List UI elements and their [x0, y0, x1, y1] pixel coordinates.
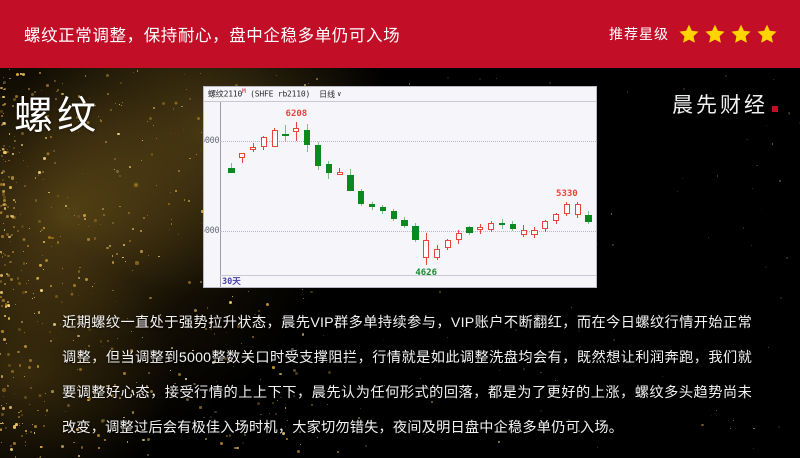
gold-speck — [8, 317, 11, 320]
gold-speck — [38, 175, 39, 176]
gold-speck — [123, 244, 125, 246]
gold-speck — [16, 182, 18, 184]
gold-speck — [2, 204, 4, 206]
gold-speck — [1, 375, 4, 378]
gold-speck — [1, 155, 3, 157]
brand-dot-icon — [772, 106, 778, 112]
gold-speck — [3, 145, 5, 147]
gold-speck — [132, 228, 134, 230]
gold-speck — [11, 215, 14, 218]
brand-name: 晨先财经 — [672, 89, 768, 119]
gold-speck — [234, 447, 236, 449]
gold-speck — [37, 277, 40, 280]
candle-body — [466, 227, 472, 233]
gold-speck — [94, 283, 95, 284]
gold-speck — [17, 277, 20, 280]
gold-speck — [110, 109, 112, 111]
candle-body — [477, 227, 483, 231]
gold-speck — [67, 197, 68, 198]
gold-speck — [19, 423, 20, 424]
gold-speck — [224, 299, 226, 301]
gold-speck — [25, 445, 26, 446]
gold-speck — [119, 104, 120, 105]
gold-speck — [1, 172, 3, 174]
gold-speck — [37, 277, 39, 279]
gold-speck — [106, 74, 109, 77]
gold-speck — [41, 90, 42, 91]
gold-speck — [43, 425, 46, 428]
gold-speck — [77, 215, 79, 217]
candle-body — [304, 130, 310, 145]
gold-speck — [183, 129, 184, 130]
gold-speck — [780, 297, 782, 299]
gold-speck — [4, 283, 7, 286]
gold-speck — [43, 269, 44, 270]
rating-label: 推荐星级 — [609, 24, 669, 44]
gold-speck — [53, 338, 54, 339]
gold-speck — [1, 124, 3, 126]
gold-speck — [751, 245, 753, 247]
candle-body — [510, 224, 516, 229]
candle-body — [412, 226, 418, 241]
candle-body — [261, 137, 267, 147]
gold-speck — [10, 241, 11, 242]
gold-speck — [18, 416, 20, 418]
gold-speck — [15, 201, 17, 203]
gold-speck — [121, 105, 122, 106]
gold-speck — [143, 217, 145, 219]
gold-speck — [51, 390, 54, 393]
gold-speck — [248, 291, 250, 293]
gold-speck — [51, 246, 52, 247]
gold-speck — [188, 281, 191, 284]
gold-speck — [21, 435, 23, 437]
gold-speck — [100, 224, 101, 225]
gold-speck — [677, 191, 678, 192]
gold-speck — [6, 403, 8, 405]
gold-speck — [2, 256, 4, 258]
chart-symbol-superscript: M — [242, 88, 245, 95]
gold-speck — [10, 235, 11, 236]
gold-speck — [4, 229, 6, 231]
gold-speck — [156, 185, 157, 186]
chart-exchange-code: (SHFE rb2110) — [250, 90, 310, 99]
gold-speck — [5, 427, 7, 429]
gold-speck — [19, 364, 21, 366]
gold-speck — [57, 241, 60, 244]
gold-speck — [62, 83, 63, 84]
gold-speck — [38, 171, 41, 174]
gold-speck — [175, 190, 177, 192]
candle-body — [358, 191, 364, 205]
gold-speck — [119, 206, 121, 208]
gold-speck — [85, 278, 88, 281]
gold-speck — [15, 304, 17, 306]
gold-speck — [60, 324, 61, 325]
gold-speck — [29, 228, 30, 229]
gold-speck — [21, 270, 22, 271]
gold-speck — [71, 290, 72, 291]
gold-speck — [232, 296, 233, 297]
gold-speck — [53, 323, 56, 326]
banner-title: 螺纹正常调整，保持耐心，盘中企稳多单仍可入场 — [24, 22, 400, 46]
gold-speck — [20, 214, 21, 215]
gold-speck — [18, 282, 21, 285]
gold-speck — [13, 199, 15, 201]
gold-speck — [597, 447, 599, 449]
gold-speck — [201, 132, 202, 133]
candle-body — [239, 153, 245, 158]
gold-speck — [7, 304, 10, 307]
gold-speck — [105, 141, 107, 143]
candle-body — [347, 175, 353, 191]
candle-body — [585, 215, 591, 222]
gold-speck — [0, 110, 3, 113]
gold-speck — [122, 102, 123, 103]
candle-body — [315, 145, 321, 166]
gold-speck — [337, 451, 339, 453]
chevron-down-icon: ∨ — [337, 90, 341, 98]
gold-speck — [27, 245, 29, 247]
gold-speck — [2, 193, 5, 196]
candle-body — [423, 240, 429, 258]
gold-speck — [7, 353, 10, 356]
gold-speck — [32, 424, 33, 425]
gold-speck — [81, 446, 84, 449]
gold-speck — [46, 84, 49, 87]
gold-speck — [54, 162, 56, 164]
gold-speck — [35, 199, 38, 202]
gold-speck — [51, 207, 52, 208]
gold-speck — [73, 284, 76, 287]
gold-speck — [116, 253, 118, 255]
gold-speck — [30, 431, 32, 433]
gold-speck — [18, 412, 20, 414]
gold-speck — [3, 338, 6, 341]
gold-speck — [91, 293, 92, 294]
gold-speck — [0, 274, 3, 277]
gold-speck — [197, 117, 200, 120]
gold-speck — [148, 255, 149, 256]
gold-speck — [1, 330, 4, 333]
gold-speck — [48, 192, 50, 194]
gold-speck — [4, 315, 6, 317]
y-axis-tick-label: 6000 — [203, 136, 219, 146]
star-icon — [678, 23, 700, 45]
gold-speck — [189, 158, 191, 160]
gold-speck — [8, 364, 11, 367]
candle-body — [553, 214, 559, 221]
gold-speck — [8, 305, 10, 307]
gold-speck — [409, 83, 410, 84]
gold-speck — [11, 370, 14, 373]
gold-speck — [26, 283, 27, 284]
gold-speck — [1, 299, 4, 302]
gold-speck — [308, 83, 309, 84]
gold-speck — [23, 251, 25, 253]
gold-speck — [62, 283, 64, 285]
candle-body — [250, 147, 256, 149]
gold-speck — [29, 359, 32, 362]
gold-speck — [0, 423, 1, 424]
gold-speck — [24, 332, 25, 333]
gold-speck — [16, 73, 19, 76]
gold-speck — [15, 456, 17, 458]
gold-speck — [39, 264, 42, 267]
gold-speck — [3, 396, 4, 397]
gold-speck — [11, 176, 14, 179]
gold-speck — [42, 323, 43, 324]
gold-speck — [2, 148, 4, 150]
candle-body — [542, 221, 548, 229]
gold-speck — [5, 161, 6, 162]
gold-speck — [17, 351, 20, 354]
gold-speck — [140, 230, 142, 232]
gold-speck — [158, 256, 159, 257]
gold-speck — [24, 376, 25, 377]
gold-speck — [116, 170, 119, 173]
gold-speck — [40, 446, 43, 449]
gold-speck — [9, 186, 12, 189]
gold-speck — [46, 409, 49, 412]
gold-speck — [112, 261, 114, 263]
gold-speck — [173, 108, 174, 109]
gold-speck — [717, 175, 719, 177]
gold-speck — [168, 203, 170, 205]
gold-speck — [149, 117, 152, 120]
gold-speck — [14, 393, 15, 394]
gold-speck — [10, 215, 12, 217]
gold-speck — [18, 328, 21, 331]
gold-speck — [3, 151, 6, 154]
gold-speck — [82, 173, 83, 174]
gold-speck — [9, 133, 11, 135]
gold-speck — [0, 211, 3, 214]
gold-speck — [153, 125, 154, 126]
gold-speck — [28, 88, 31, 91]
gold-speck — [6, 151, 9, 154]
gold-speck — [6, 204, 8, 206]
gold-speck — [188, 200, 190, 202]
gold-speck — [57, 89, 59, 91]
gold-speck — [7, 384, 8, 385]
gold-speck — [236, 447, 239, 450]
gold-speck — [753, 428, 755, 430]
gold-speck — [92, 286, 93, 287]
gold-speck — [112, 255, 114, 257]
gold-speck — [51, 237, 54, 240]
gold-speck — [34, 425, 37, 428]
candle-body — [456, 233, 462, 241]
gold-speck — [4, 254, 6, 256]
gold-speck — [3, 253, 4, 254]
candle-body — [293, 128, 299, 132]
gold-speck — [23, 160, 24, 161]
gold-speck — [112, 290, 113, 291]
gold-speck — [184, 74, 185, 75]
gold-speck — [778, 426, 780, 428]
gold-speck — [611, 213, 613, 215]
gold-speck — [5, 305, 8, 308]
gold-speck — [1, 405, 2, 406]
gold-speck — [55, 295, 58, 298]
gold-speck — [37, 410, 38, 411]
gold-speck — [13, 425, 16, 428]
gold-speck — [147, 215, 148, 216]
gold-speck — [3, 423, 5, 425]
gold-speck — [627, 91, 629, 93]
gold-speck — [6, 233, 9, 236]
gold-speck — [40, 446, 42, 448]
gold-speck — [756, 165, 758, 167]
gold-speck — [1, 305, 3, 307]
brand-logo: 晨先财经 — [672, 89, 778, 119]
candle-body — [499, 223, 505, 225]
gold-speck — [178, 170, 180, 172]
candle-body — [575, 204, 581, 215]
gold-speck — [24, 396, 27, 399]
gold-speck — [43, 179, 44, 180]
gold-speck — [2, 422, 3, 423]
gold-speck — [1, 413, 4, 416]
gold-speck — [178, 234, 179, 235]
gold-speck — [4, 207, 7, 210]
gold-speck — [147, 121, 149, 123]
gold-speck — [7, 149, 8, 150]
gold-speck — [78, 295, 80, 297]
gold-speck — [109, 245, 111, 247]
gold-speck — [45, 393, 46, 394]
chart-price-annotation: 6208 — [286, 109, 308, 119]
gold-speck — [170, 192, 172, 194]
gold-speck — [1, 115, 3, 117]
gold-speck — [13, 147, 15, 149]
gold-speck — [25, 291, 27, 293]
gold-speck — [128, 212, 131, 215]
candle-wick — [285, 125, 286, 141]
gold-speck — [114, 158, 116, 160]
gold-speck — [78, 455, 80, 457]
x-axis — [220, 275, 597, 276]
gold-speck — [140, 250, 143, 253]
gold-speck — [78, 224, 79, 225]
gold-speck — [85, 75, 86, 76]
candlestick-chart-panel[interactable]: 螺纹2110M (SHFE rb2110) 日线 ∨ 30天 600050006… — [203, 86, 597, 288]
gold-speck — [761, 209, 762, 210]
gold-speck — [22, 291, 25, 294]
rating-group: 推荐星级 — [609, 23, 778, 45]
gold-speck — [78, 277, 80, 279]
candle-body — [391, 211, 397, 219]
gold-speck — [107, 93, 109, 95]
gold-speck — [115, 103, 116, 104]
gold-speck — [27, 166, 28, 167]
gold-speck — [39, 72, 41, 74]
gold-speck — [88, 226, 89, 227]
gold-speck — [746, 139, 748, 141]
gold-speck — [68, 208, 69, 209]
gold-speck — [1, 442, 2, 443]
star-rating — [678, 23, 778, 45]
gold-speck — [36, 277, 39, 280]
gold-speck — [151, 153, 154, 156]
gold-speck — [100, 120, 102, 122]
gold-speck — [19, 301, 20, 302]
gold-speck — [788, 112, 790, 114]
gold-speck — [612, 244, 614, 246]
gold-speck — [129, 240, 131, 242]
gold-speck — [786, 257, 788, 259]
gold-speck — [79, 267, 80, 268]
gold-speck — [26, 263, 27, 264]
gold-speck — [45, 415, 46, 416]
gold-speck — [773, 79, 774, 80]
gold-speck — [149, 297, 152, 300]
gold-speck — [48, 236, 51, 239]
gold-speck — [200, 281, 202, 283]
gold-speck — [141, 160, 143, 162]
gold-speck — [0, 296, 2, 298]
gold-speck — [21, 144, 23, 146]
gold-speck — [42, 255, 43, 256]
gold-speck — [13, 226, 15, 228]
candle-body — [326, 164, 332, 173]
gold-speck — [28, 366, 31, 369]
gold-speck — [765, 266, 767, 268]
gold-speck — [0, 280, 2, 282]
gold-speck — [6, 215, 9, 218]
gold-speck — [122, 257, 124, 259]
star-icon — [756, 23, 778, 45]
gold-speck — [103, 214, 105, 216]
gold-speck — [5, 303, 8, 306]
chart-period-selector[interactable]: 日线 ∨ — [319, 89, 341, 100]
gold-speck — [196, 154, 197, 155]
gold-speck — [135, 261, 138, 264]
gold-speck — [2, 122, 5, 125]
chart-range-label: 30天 — [222, 275, 241, 287]
gold-speck — [38, 220, 41, 223]
gold-speck — [4, 203, 5, 204]
gold-speck — [132, 270, 133, 271]
gold-speck — [17, 230, 19, 232]
gold-speck — [29, 404, 30, 405]
gold-speck — [725, 75, 727, 77]
chart-plot-area[interactable]: 30天 60005000620846265330 — [204, 102, 597, 288]
gold-speck — [106, 247, 109, 250]
gold-speck — [169, 229, 170, 230]
gold-speck — [34, 432, 35, 433]
gold-speck — [3, 96, 5, 98]
gold-speck — [15, 423, 18, 426]
gold-speck — [2, 170, 5, 173]
gold-speck — [84, 218, 86, 220]
gold-speck — [3, 190, 5, 192]
gold-speck — [0, 291, 3, 294]
gold-speck — [129, 166, 131, 168]
gold-speck — [2, 179, 4, 181]
gold-speck — [119, 175, 122, 178]
gold-speck — [2, 96, 4, 98]
gold-speck — [1, 253, 2, 254]
gold-speck — [2, 104, 5, 107]
gold-speck — [7, 301, 10, 304]
gold-speck — [1, 148, 2, 149]
gold-speck — [39, 264, 42, 267]
gold-speck — [0, 150, 1, 151]
gold-speck — [7, 274, 10, 277]
gold-speck — [2, 148, 5, 151]
